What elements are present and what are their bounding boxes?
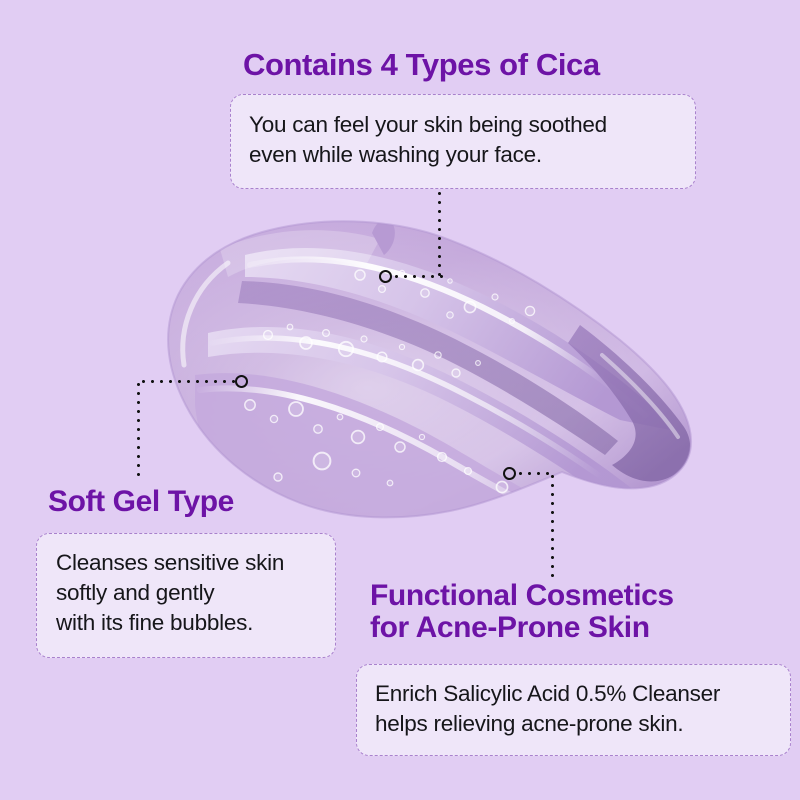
callout-marker-functional — [503, 467, 516, 480]
callout-heading-functional: Functional Cosmetics for Acne-Prone Skin — [370, 580, 674, 645]
connector-cica-vertical — [438, 189, 441, 278]
callout-box-soft-gel: Cleanses sensitive skin softly and gentl… — [36, 533, 336, 658]
callout-heading-soft-gel: Soft Gel Type — [48, 486, 234, 518]
connector-soft-gel-horizontal — [139, 380, 235, 383]
callout-body-functional: Enrich Salicylic Acid 0.5% Cleanser help… — [357, 665, 790, 739]
callout-marker-soft-gel — [235, 375, 248, 388]
gel-swatch-image — [150, 215, 695, 530]
connector-functional-vertical — [551, 472, 554, 580]
callout-box-functional: Enrich Salicylic Acid 0.5% Cleanser help… — [356, 664, 791, 756]
callout-body-cica: You can feel your skin being soothed eve… — [231, 95, 695, 170]
connector-cica-horizontal — [392, 275, 444, 278]
callout-body-soft-gel: Cleanses sensitive skin softly and gentl… — [37, 534, 335, 638]
connector-functional-horizontal — [516, 472, 554, 475]
connector-soft-gel-vertical — [137, 380, 140, 480]
callout-box-cica: You can feel your skin being soothed eve… — [230, 94, 696, 189]
infographic-canvas: Contains 4 Types of Cica You can feel yo… — [0, 0, 800, 800]
callout-heading-cica: Contains 4 Types of Cica — [243, 48, 600, 81]
callout-marker-cica — [379, 270, 392, 283]
